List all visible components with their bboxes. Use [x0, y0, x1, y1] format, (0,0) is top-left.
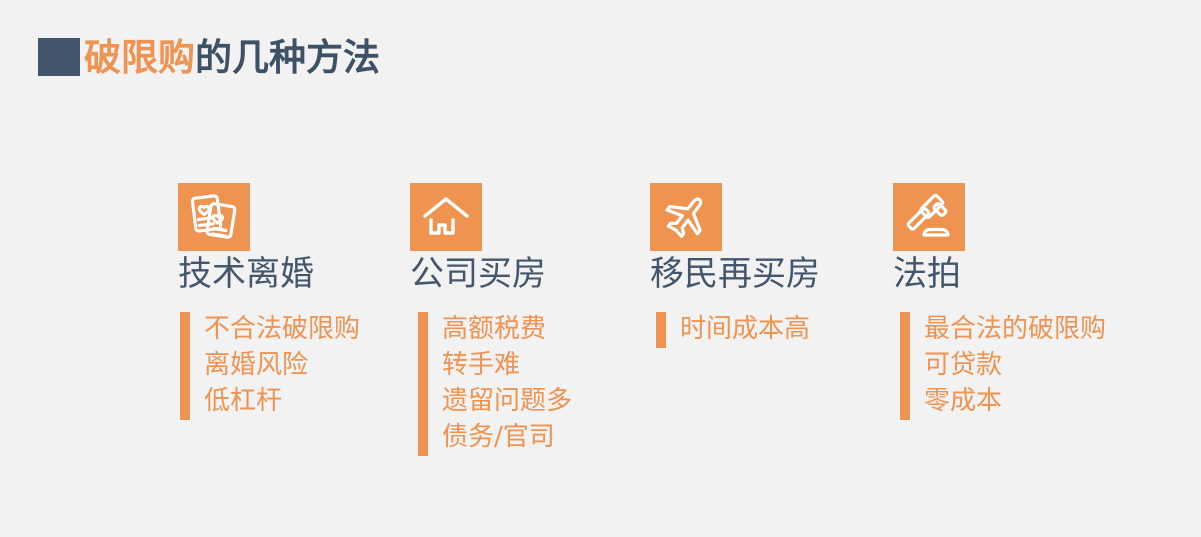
bullet-list: 高额税费 转手难 遗留问题多 债务/官司 — [442, 312, 572, 456]
title-square-icon — [38, 38, 80, 76]
method-heading: 技术离婚 — [178, 255, 360, 294]
bullet-item: 债务/官司 — [442, 420, 572, 456]
bullet-item: 离婚风险 — [204, 348, 360, 384]
bullet-list: 最合法的破限购 可贷款 零成本 — [924, 312, 1106, 420]
page-title-text: 破限购的几种方法 — [84, 39, 380, 76]
bullet-bar — [180, 312, 190, 420]
bullet-list: 时间成本高 — [680, 312, 810, 348]
bullet-item: 遗留问题多 — [442, 384, 572, 420]
page-title-rest: 的几种方法 — [195, 36, 380, 79]
method-heading: 法拍 — [893, 255, 1106, 294]
bullet-item: 时间成本高 — [680, 312, 810, 348]
marriage-certificates-icon — [178, 183, 250, 251]
bullet-group: 高额税费 转手难 遗留问题多 债务/官司 — [418, 312, 572, 456]
page-title: 破限购的几种方法 — [38, 33, 380, 81]
method-column-technical-divorce: 技术离婚 不合法破限购 离婚风险 低杠杆 — [178, 183, 360, 420]
bullet-item: 零成本 — [924, 384, 1106, 420]
bullet-item: 低杠杆 — [204, 384, 360, 420]
bullet-item: 不合法破限购 — [204, 312, 360, 348]
bullet-group: 最合法的破限购 可贷款 零成本 — [900, 312, 1106, 420]
bullet-item: 最合法的破限购 — [924, 312, 1106, 348]
bullet-item: 高额税费 — [442, 312, 572, 348]
gavel-icon — [893, 183, 965, 251]
bullet-bar — [656, 312, 666, 348]
bullet-group: 时间成本高 — [656, 312, 820, 348]
house-icon — [410, 183, 482, 251]
bullet-item: 可贷款 — [924, 348, 1106, 384]
method-columns: 技术离婚 不合法破限购 离婚风险 低杠杆 公司买房 高额税费 转手难 遗留问题多 — [0, 183, 1201, 483]
bullet-list: 不合法破限购 离婚风险 低杠杆 — [204, 312, 360, 420]
method-heading: 移民再买房 — [650, 255, 820, 294]
method-heading: 公司买房 — [410, 255, 572, 294]
method-column-emigration: 移民再买房 时间成本高 — [650, 183, 820, 348]
method-column-company-purchase: 公司买房 高额税费 转手难 遗留问题多 债务/官司 — [410, 183, 572, 456]
method-column-judicial-auction: 法拍 最合法的破限购 可贷款 零成本 — [893, 183, 1106, 420]
airplane-icon — [650, 183, 722, 251]
page-title-accent: 破限购 — [84, 36, 195, 79]
bullet-item: 转手难 — [442, 348, 572, 384]
bullet-bar — [900, 312, 910, 420]
bullet-group: 不合法破限购 离婚风险 低杠杆 — [180, 312, 360, 420]
bullet-bar — [418, 312, 428, 456]
